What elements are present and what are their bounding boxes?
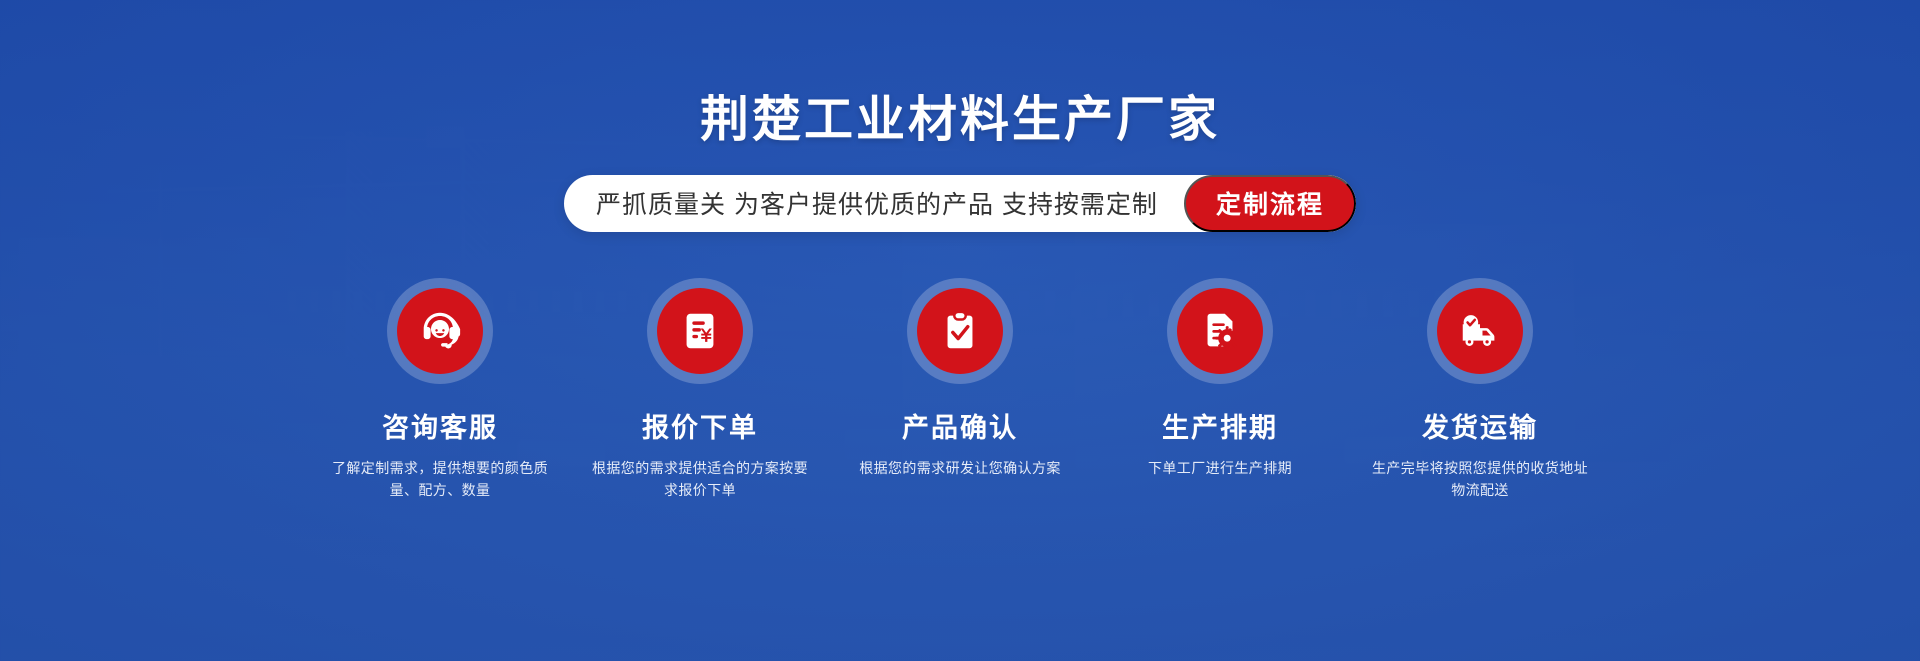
page-title: 荆楚工业材料生产厂家 <box>700 94 1220 148</box>
slogan-text: 严抓质量关 为客户提供优质的产品 支持按需定制 <box>564 175 1184 232</box>
step-description: 根据您的需求研发让您确认方案 <box>859 458 1061 480</box>
step-item-quote-order[interactable]: 报价下单 根据您的需求提供适合的方案按要求报价下单 <box>570 278 830 501</box>
step-description: 下单工厂进行生产排期 <box>1148 458 1292 480</box>
step-icon-disc <box>1177 288 1263 374</box>
step-icon-ring <box>387 278 493 384</box>
step-item-production-schedule[interactable]: 生产排期 下单工厂进行生产排期 <box>1090 278 1350 480</box>
step-description: 生产完毕将按照您提供的收货地址物流配送 <box>1365 458 1595 501</box>
process-steps: 咨询客服 了解定制需求，提供想要的颜色质量、配方、数量 <box>310 278 1610 501</box>
step-item-consult[interactable]: 咨询客服 了解定制需求，提供想要的颜色质量、配方、数量 <box>310 278 570 501</box>
headset-support-icon <box>417 308 463 354</box>
banner-content: 荆楚工业材料生产厂家 严抓质量关 为客户提供优质的产品 支持按需定制 定制流程 … <box>0 0 1920 661</box>
step-item-product-confirm[interactable]: 产品确认 根据您的需求研发让您确认方案 <box>830 278 1090 480</box>
delivery-truck-check-icon <box>1457 308 1503 354</box>
step-title: 报价下单 <box>642 406 758 445</box>
step-icon-disc <box>917 288 1003 374</box>
document-gear-icon <box>1197 308 1243 354</box>
slogan-pill: 严抓质量关 为客户提供优质的产品 支持按需定制 定制流程 <box>564 175 1356 232</box>
step-icon-disc <box>397 288 483 374</box>
step-icon-ring <box>1167 278 1273 384</box>
custom-process-button[interactable]: 定制流程 <box>1184 175 1356 232</box>
step-title: 生产排期 <box>1162 406 1278 445</box>
invoice-yuan-icon <box>677 308 723 354</box>
step-icon-ring <box>1427 278 1533 384</box>
step-icon-ring <box>647 278 753 384</box>
step-icon-disc <box>1437 288 1523 374</box>
step-title: 产品确认 <box>902 406 1018 445</box>
promo-banner: 荆楚工业材料生产厂家 严抓质量关 为客户提供优质的产品 支持按需定制 定制流程 … <box>0 0 1920 661</box>
step-description: 了解定制需求，提供想要的颜色质量、配方、数量 <box>325 458 555 501</box>
step-description: 根据您的需求提供适合的方案按要求报价下单 <box>585 458 815 501</box>
step-item-shipping[interactable]: 发货运输 生产完毕将按照您提供的收货地址物流配送 <box>1350 278 1610 501</box>
step-icon-ring <box>907 278 1013 384</box>
step-title: 咨询客服 <box>382 406 498 445</box>
clipboard-check-icon <box>937 308 983 354</box>
step-title: 发货运输 <box>1422 406 1538 445</box>
step-icon-disc <box>657 288 743 374</box>
